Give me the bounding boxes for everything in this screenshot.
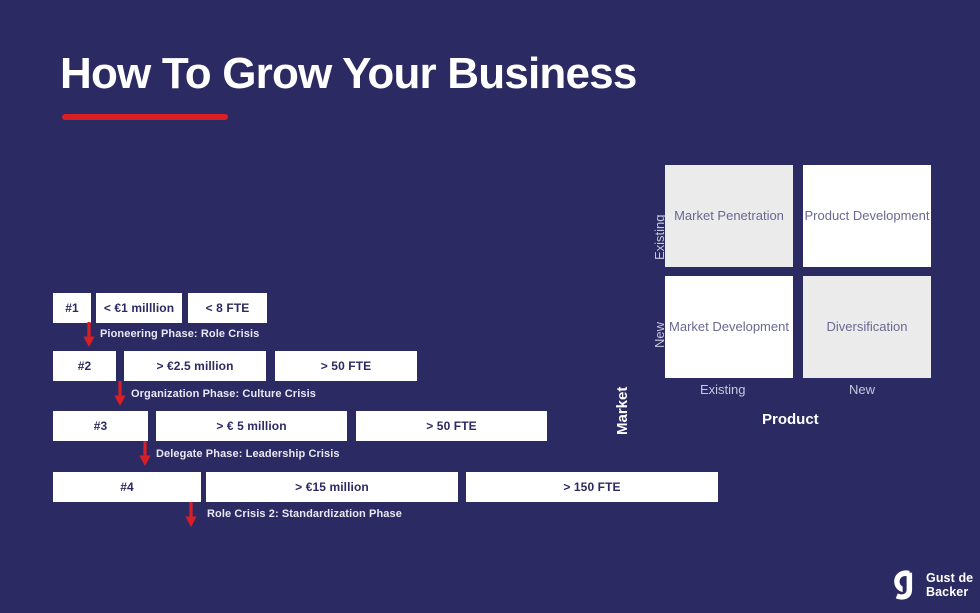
matrix-y-axis-title: Market [614, 387, 631, 435]
ladder-arrow-4-icon [183, 502, 199, 528]
ladder-row4-fte: > 150 FTE [466, 472, 718, 502]
matrix-quadrant-market-penetration: Market Penetration [665, 165, 793, 267]
ladder-row1-fte: < 8 FTE [188, 293, 267, 323]
ladder-row3-fte: > 50 FTE [356, 411, 547, 441]
ladder-arrow-1-icon [81, 322, 97, 348]
ladder-row2-stage: #2 [53, 351, 116, 381]
matrix-quadrant-market-development: Market Development [665, 276, 793, 378]
brand-logo: Gust de Backer [893, 570, 973, 600]
ladder-caption-4: Role Crisis 2: Standardization Phase [207, 508, 402, 520]
ansoff-matrix: Market Existing New Market Penetration P… [600, 150, 960, 440]
ladder-caption-3: Delegate Phase: Leadership Crisis [156, 448, 340, 460]
ladder-row1-revenue: < €1 milllion [96, 293, 182, 323]
ladder-arrow-3-icon [137, 441, 153, 467]
matrix-quadrant-diversification: Diversification [803, 276, 931, 378]
ladder-row3-stage: #3 [53, 411, 148, 441]
logo-line-1: Gust de [926, 571, 973, 585]
ladder-row3-revenue: > € 5 million [156, 411, 347, 441]
matrix-x-tick-new: New [849, 382, 875, 397]
ladder-arrow-2-icon [112, 381, 128, 407]
ladder-caption-1: Pioneering Phase: Role Crisis [100, 328, 259, 340]
g-monogram-icon [893, 570, 919, 600]
matrix-x-axis-title: Product [762, 411, 819, 428]
ladder-row4-revenue: > €15 million [206, 472, 458, 502]
ladder-row2-revenue: > €2.5 million [124, 351, 266, 381]
matrix-quadrant-product-development: Product Development [803, 165, 931, 267]
logo-wordmark: Gust de Backer [926, 571, 973, 599]
slide-canvas: How To Grow Your Business #1 < €1 millli… [0, 0, 980, 613]
ladder-row1-stage: #1 [53, 293, 91, 323]
ladder-row4-stage: #4 [53, 472, 201, 502]
logo-line-2: Backer [926, 585, 973, 599]
matrix-x-tick-existing: Existing [700, 382, 746, 397]
ladder-caption-2: Organization Phase: Culture Crisis [131, 388, 316, 400]
ladder-row2-fte: > 50 FTE [275, 351, 417, 381]
